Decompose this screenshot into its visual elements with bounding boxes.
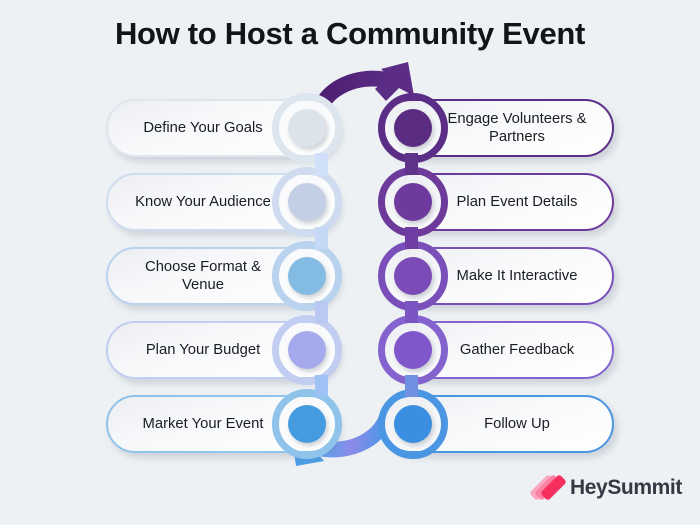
step-label: Market Your Event [124, 415, 282, 433]
step-node [272, 389, 342, 459]
flow-step-left-4[interactable]: Plan Your Budget [106, 321, 338, 379]
step-label: Engage Volunteers & Partners [438, 110, 596, 146]
step-label: Gather Feedback [438, 341, 596, 359]
flow-step-left-2[interactable]: Know Your Audience [106, 173, 338, 231]
step-node [272, 315, 342, 385]
flow-step-right-1[interactable]: Engage Volunteers & Partners [382, 99, 614, 157]
flow-step-left-5[interactable]: Market Your Event [106, 395, 338, 453]
step-dot [288, 405, 326, 443]
step-connector-left-2 [315, 227, 328, 249]
step-connector-left-3 [315, 301, 328, 323]
step-connector-right-1 [405, 153, 418, 175]
step-dot [394, 183, 432, 221]
step-label: Plan Your Budget [124, 341, 282, 359]
step-label: Make It Interactive [438, 267, 596, 285]
step-dot [394, 257, 432, 295]
step-label: Define Your Goals [124, 119, 282, 137]
step-connector-right-2 [405, 227, 418, 249]
step-node [378, 389, 448, 459]
step-label: Plan Event Details [438, 193, 596, 211]
step-label: Choose Format & Venue [124, 258, 282, 294]
heysummit-mark-icon [536, 474, 563, 501]
step-dot [288, 257, 326, 295]
flow-step-right-3[interactable]: Make It Interactive [382, 247, 614, 305]
step-connector-right-3 [405, 301, 418, 323]
step-node [272, 93, 342, 163]
step-dot [394, 331, 432, 369]
flow-step-right-2[interactable]: Plan Event Details [382, 173, 614, 231]
flow-step-right-5[interactable]: Follow Up [382, 395, 614, 453]
flow-step-left-3[interactable]: Choose Format & Venue [106, 247, 338, 305]
heysummit-wordmark: HeySummit [570, 476, 682, 500]
step-connector-left-4 [315, 375, 328, 397]
step-dot [288, 183, 326, 221]
step-connector-left-1 [315, 153, 328, 175]
step-label: Know Your Audience [124, 193, 282, 211]
step-dot [394, 405, 432, 443]
heysummit-logo: HeySummit [536, 474, 682, 501]
infographic-canvas: How to Host a Community Event De [0, 0, 700, 525]
step-dot [288, 109, 326, 147]
step-label: Follow Up [438, 415, 596, 433]
step-node [272, 241, 342, 311]
step-node [272, 167, 342, 237]
page-title: How to Host a Community Event [0, 16, 700, 52]
step-dot [394, 109, 432, 147]
flow-step-right-4[interactable]: Gather Feedback [382, 321, 614, 379]
step-connector-right-4 [405, 375, 418, 397]
flow-step-left-1[interactable]: Define Your Goals [106, 99, 338, 157]
step-dot [288, 331, 326, 369]
